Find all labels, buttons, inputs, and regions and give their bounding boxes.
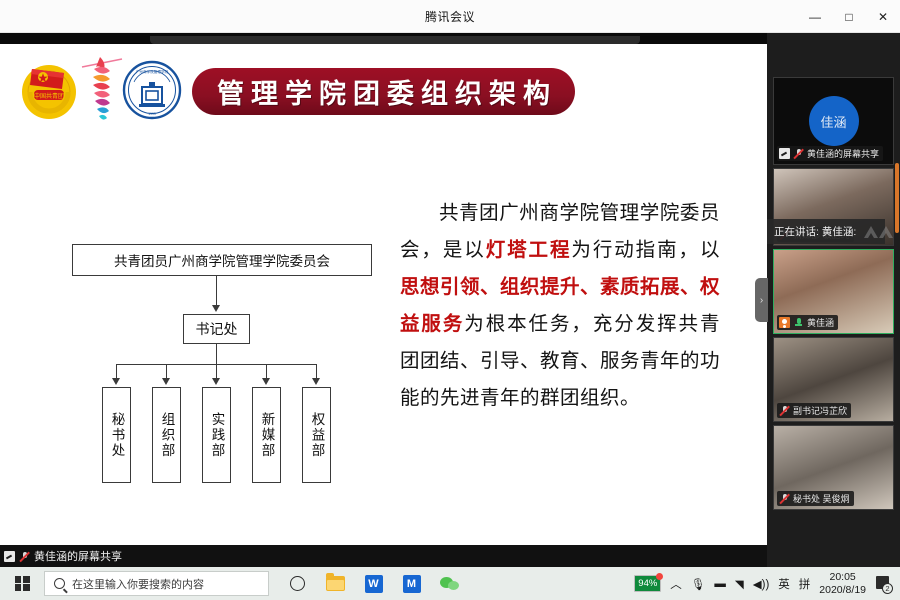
slide-paragraph: 共青团广州商学院管理学院委员会，是以灯塔工程为行动指南，以思想引领、组织提升、素… bbox=[400, 194, 720, 416]
cortana-icon[interactable] bbox=[287, 573, 308, 594]
video-tile-4-label: 副书记冯芷欣 bbox=[793, 404, 847, 417]
tray-expand-chevron-icon[interactable]: ︿ bbox=[670, 576, 682, 592]
org-node-leaf-5: 权益部 bbox=[302, 387, 331, 483]
svg-text:中国共青团: 中国共青团 bbox=[34, 92, 64, 100]
start-button[interactable] bbox=[0, 567, 44, 600]
org-arrow-1 bbox=[112, 378, 120, 385]
taskbar-app-icons: W M bbox=[287, 573, 460, 594]
slide-logos: 中国共青团 广州商学院管理学院 bbox=[12, 55, 187, 123]
ribbon-torch-emblem-icon bbox=[78, 55, 126, 123]
host-icon bbox=[779, 317, 790, 328]
meeting-window-body: 中国共青团 广州商学院管理学院 bbox=[0, 33, 900, 567]
org-drop-5 bbox=[316, 364, 317, 378]
badge-alert-dot bbox=[656, 573, 663, 580]
taskbar-search-input[interactable]: 在这里输入你要搜索的内容 bbox=[44, 571, 269, 596]
video-tile-5-label-group: 秘书处 吴俊烔 bbox=[777, 491, 854, 506]
video-tile-4[interactable]: 副书记冯芷欣 bbox=[773, 337, 894, 422]
slide-title-banner: 管理学院团委组织架构 bbox=[192, 68, 575, 115]
windows-logo-icon bbox=[15, 576, 30, 591]
org-node-leaf-4: 新媒部 bbox=[252, 387, 281, 483]
org-arrow-3 bbox=[212, 378, 220, 385]
org-drop-2 bbox=[166, 364, 167, 378]
search-placeholder: 在这里输入你要搜索的内容 bbox=[72, 576, 204, 592]
clock-date: 2020/8/19 bbox=[819, 584, 866, 597]
svg-text:广州商学院管理学院: 广州商学院管理学院 bbox=[136, 69, 169, 74]
mic-on-icon bbox=[793, 317, 804, 328]
org-connector-mid-bus bbox=[216, 344, 217, 364]
org-node-leaf-2: 组织部 bbox=[152, 387, 181, 483]
volume-icon[interactable]: ◀)) bbox=[753, 577, 770, 591]
org-node-mid: 书记处 bbox=[183, 314, 250, 344]
mic-muted-icon bbox=[779, 493, 790, 504]
communist-youth-league-emblem-icon: 中国共青团 bbox=[18, 59, 80, 121]
video-tile-1-label-group: 黄佳涵的屏幕共享 bbox=[777, 146, 883, 161]
avatar: 佳涵 bbox=[809, 96, 859, 146]
org-node-root: 共青团员广州商学院管理学院委员会 bbox=[72, 244, 372, 276]
org-drop-4 bbox=[266, 364, 267, 378]
taskbar-clock[interactable]: 20:05 2020/8/19 bbox=[819, 571, 866, 597]
org-arrow-5 bbox=[312, 378, 320, 385]
microphone-icon[interactable]: 🎙 bbox=[691, 577, 706, 591]
shared-screen-area: 中国共青团 广州商学院管理学院 bbox=[0, 33, 767, 545]
battery-percent-badge[interactable]: 94% bbox=[634, 575, 661, 592]
paragraph-part-2: 为行动指南，以 bbox=[571, 238, 720, 261]
video-tile-3[interactable]: 黄佳涵 bbox=[773, 249, 894, 334]
notification-center-icon[interactable]: 2 bbox=[875, 575, 892, 592]
video-tile-4-label-group: 副书记冯芷欣 bbox=[777, 403, 851, 418]
org-arrow-mid bbox=[212, 305, 220, 312]
video-tile-3-label: 黄佳涵 bbox=[807, 316, 834, 329]
mic-muted-icon bbox=[779, 405, 790, 416]
ime-language-indicator[interactable]: 英 bbox=[778, 576, 790, 592]
tencent-meeting-watermark-icon bbox=[862, 223, 896, 240]
video-tile-1-label: 黄佳涵的屏幕共享 bbox=[807, 147, 879, 160]
shared-screen-topbar bbox=[0, 33, 767, 44]
close-button[interactable]: ✕ bbox=[866, 0, 900, 33]
svg-text:1999: 1999 bbox=[148, 112, 156, 116]
window-title-bar: 腾讯会议 — □ ✕ bbox=[0, 0, 900, 33]
battery-icon[interactable]: ▬ bbox=[714, 578, 726, 590]
org-connector-root-mid bbox=[216, 276, 217, 305]
university-seal-icon: 广州商学院管理学院 1999 bbox=[122, 60, 182, 120]
screen-share-status-label: 黄佳涵的屏幕共享 bbox=[34, 548, 122, 564]
video-tile-1[interactable]: 佳涵 黄佳涵的屏幕共享 bbox=[773, 77, 894, 165]
screen-share-status-bar: 黄佳涵的屏幕共享 bbox=[0, 545, 767, 567]
shared-screen-toolbar-collapsed[interactable] bbox=[150, 36, 640, 44]
mic-muted-icon bbox=[19, 551, 30, 562]
notification-count: 2 bbox=[882, 583, 893, 594]
maximize-button[interactable]: □ bbox=[832, 0, 866, 33]
panel-collapse-chevron-icon[interactable]: › bbox=[755, 278, 768, 322]
wps-office-icon[interactable]: W bbox=[363, 573, 384, 594]
screen-share-icon bbox=[4, 551, 15, 562]
org-drop-1 bbox=[116, 364, 117, 378]
video-tile-5-label: 秘书处 吴俊烔 bbox=[793, 492, 850, 505]
screen-share-icon bbox=[779, 148, 790, 159]
clock-time: 20:05 bbox=[819, 571, 866, 584]
org-arrow-4 bbox=[262, 378, 270, 385]
video-tile-3-label-group: 黄佳涵 bbox=[777, 315, 838, 330]
search-icon bbox=[54, 578, 65, 589]
org-arrow-2 bbox=[162, 378, 170, 385]
org-chart: 共青团员广州商学院管理学院委员会 书记处 秘书处 组 bbox=[55, 199, 400, 499]
mic-muted-icon bbox=[793, 148, 804, 159]
window-title: 腾讯会议 bbox=[425, 8, 475, 25]
org-drop-3 bbox=[216, 364, 217, 378]
system-tray: 94% ︿ 🎙 ▬ ◥ ◀)) 英 拼 20:05 2020/8/19 2 bbox=[634, 571, 900, 597]
slide-title-text: 管理学院团委组织架构 bbox=[210, 72, 557, 111]
file-explorer-icon[interactable] bbox=[325, 573, 346, 594]
window-controls: — □ ✕ bbox=[798, 0, 900, 33]
presentation-slide: 中国共青团 广州商学院管理学院 bbox=[0, 44, 767, 545]
org-node-leaf-1: 秘书处 bbox=[102, 387, 131, 483]
paragraph-highlight-1: 灯塔工程 bbox=[486, 238, 572, 261]
video-thumbnail-panel: › 佳涵 黄佳涵的屏幕共享 新媒部 敏胞纯 正在讲话: 黄佳涵: bbox=[767, 33, 900, 567]
wifi-icon[interactable]: ◥ bbox=[735, 577, 744, 591]
video-tile-5[interactable]: 秘书处 吴俊烔 bbox=[773, 425, 894, 510]
org-node-leaf-3: 实践部 bbox=[202, 387, 231, 483]
wechat-icon[interactable] bbox=[439, 573, 460, 594]
windows-taskbar: 在这里输入你要搜索的内容 W M 94% ︿ 🎙 ▬ ◥ ◀)) 英 拼 20:… bbox=[0, 567, 900, 600]
minimize-button[interactable]: — bbox=[798, 0, 832, 33]
meeting-app-icon[interactable]: M bbox=[401, 573, 422, 594]
ime-mode-indicator[interactable]: 拼 bbox=[799, 576, 811, 592]
